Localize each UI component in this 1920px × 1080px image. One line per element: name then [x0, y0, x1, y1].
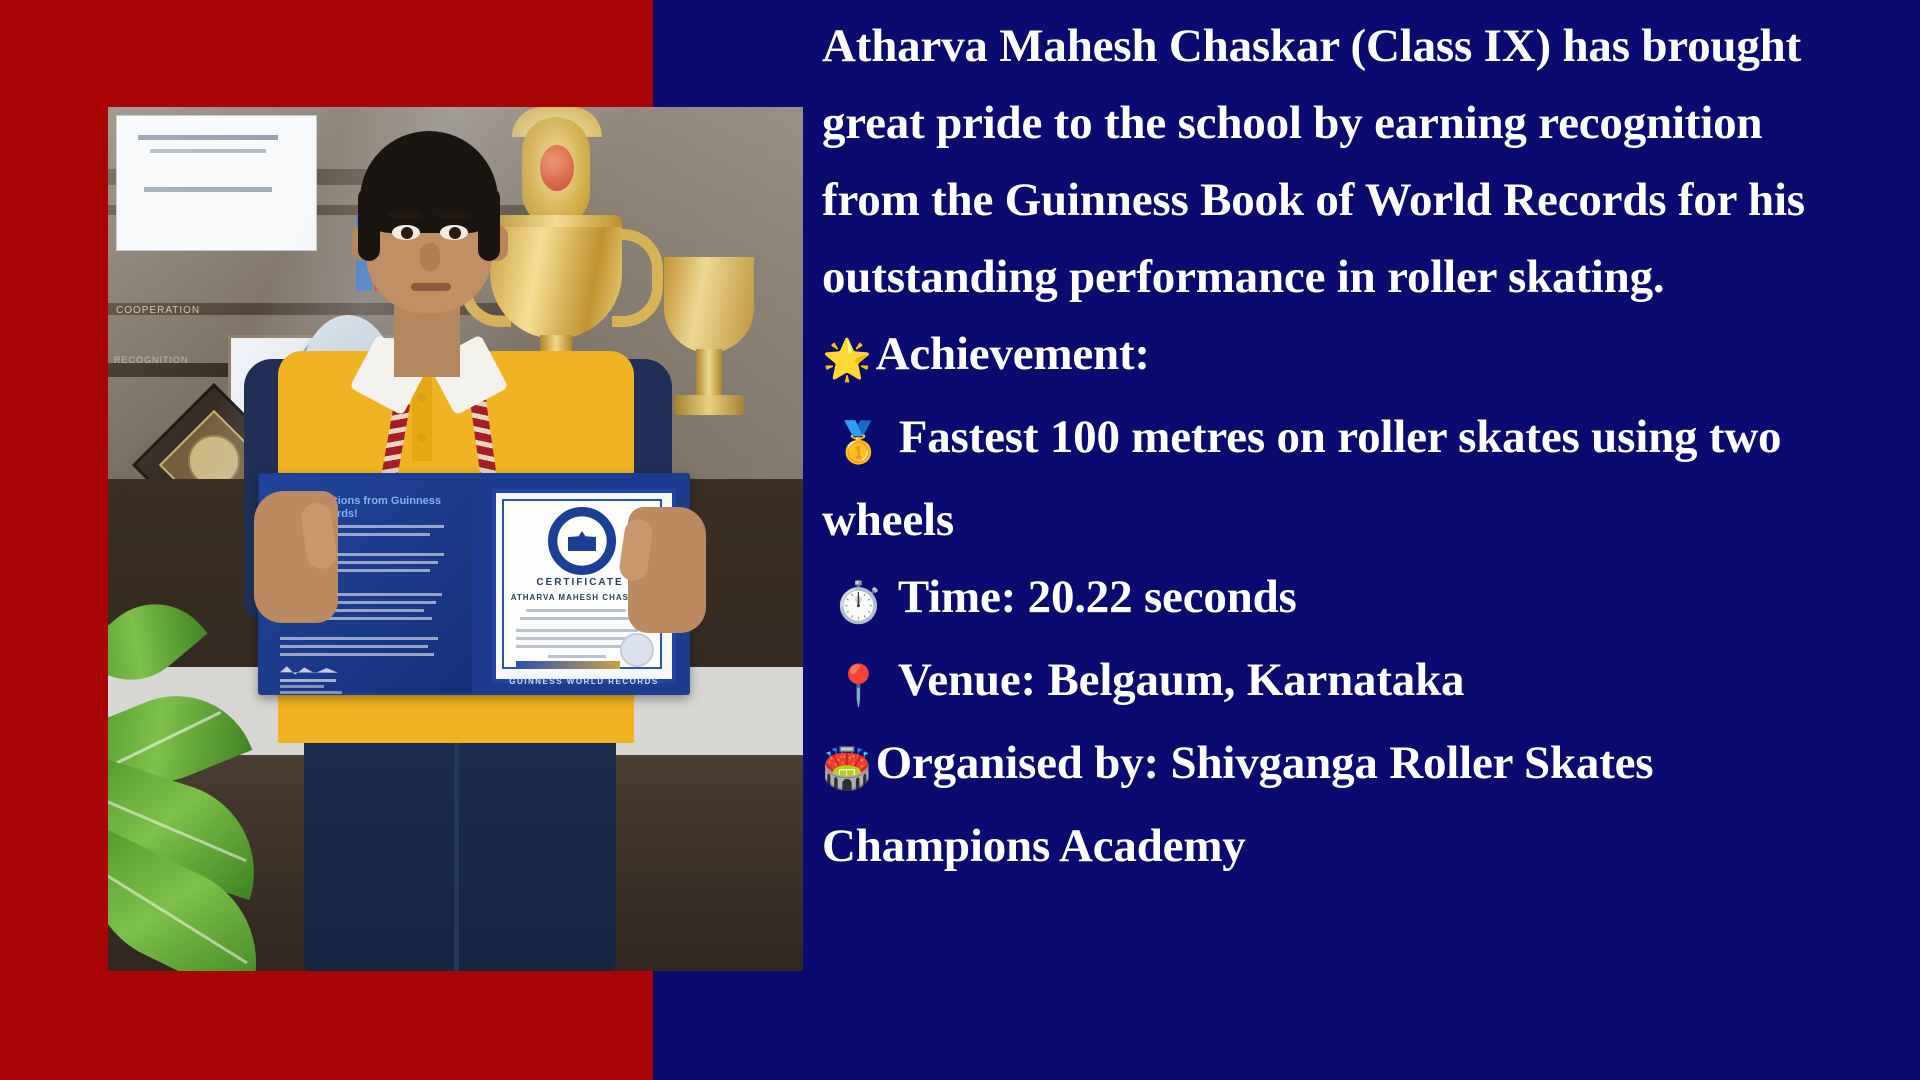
eyebrow-left	[388, 211, 422, 218]
pupil-right	[449, 227, 461, 239]
certificate-body-line	[520, 617, 632, 620]
shirt-button	[417, 393, 426, 402]
folder-body-line	[280, 653, 434, 656]
signature-name-line	[280, 679, 336, 682]
shirt-button	[417, 433, 426, 442]
round-pushpin-icon: 📍	[834, 648, 884, 725]
detail-time-text: Time: 20.22 seconds	[898, 571, 1297, 623]
signature-org-line	[280, 691, 342, 694]
certificate-body-line	[516, 637, 634, 640]
detail-row-time: ⏱️ Time: 20.22 seconds	[822, 559, 1808, 642]
mouth	[411, 283, 451, 291]
stadium-icon: 🏟️	[822, 731, 872, 808]
stopwatch-icon: ⏱️	[834, 565, 884, 642]
signature-title-line	[280, 685, 324, 688]
detail-record-text: Fastest 100 metres on roller skates usin…	[822, 411, 1781, 546]
detail-row-venue: 📍 Venue: Belgaum, Karnataka	[822, 642, 1808, 725]
detail-venue-text: Venue: Belgaum, Karnataka	[898, 654, 1464, 706]
certificate-body-line	[516, 645, 630, 648]
folder-footer-text: GUINNESS WORLD RECORDS	[494, 677, 674, 686]
detail-row-record: 🥇 Fastest 100 metres on roller skates us…	[822, 399, 1808, 559]
achievement-heading-label: Achievement:	[876, 328, 1150, 380]
glowing-star-icon: 🌟	[822, 322, 872, 399]
pupil-left	[401, 227, 413, 239]
student-photo: INTERMEDIATE . INTERMEDIATE . COOPERATIO…	[108, 107, 803, 971]
gold-medal-icon: 🥇	[834, 405, 884, 482]
certificate-body-line	[516, 629, 638, 632]
announcement-text-block: Atharva Mahesh Chaskar (Class IX) has br…	[822, 8, 1808, 885]
detail-row-organiser: 🏟️Organised by: Shivganga Roller Skates …	[822, 725, 1808, 885]
student-hair-side	[358, 187, 380, 261]
certificate-embossed-seal	[620, 633, 654, 667]
trousers-seam	[454, 727, 459, 971]
slide-canvas: INTERMEDIATE . INTERMEDIATE . COOPERATIO…	[0, 0, 1920, 1080]
folder-body-line	[280, 645, 428, 648]
guinness-world-records-seal-icon	[548, 507, 616, 575]
student-neck	[394, 303, 460, 377]
folder-body-line	[280, 637, 438, 640]
certificate-footer-band	[516, 661, 620, 669]
student-hair-side	[478, 187, 500, 261]
certificate-body-line	[548, 655, 606, 658]
nose	[420, 243, 440, 271]
achievement-heading-row: 🌟Achievement:	[822, 316, 1808, 399]
student-trousers	[304, 723, 616, 971]
headline-paragraph: Atharva Mahesh Chaskar (Class IX) has br…	[822, 8, 1808, 316]
detail-organiser-text: Organised by: Shivganga Roller Skates Ch…	[822, 737, 1653, 872]
certificate-body-line	[526, 609, 626, 612]
eyebrow-right	[438, 211, 472, 218]
